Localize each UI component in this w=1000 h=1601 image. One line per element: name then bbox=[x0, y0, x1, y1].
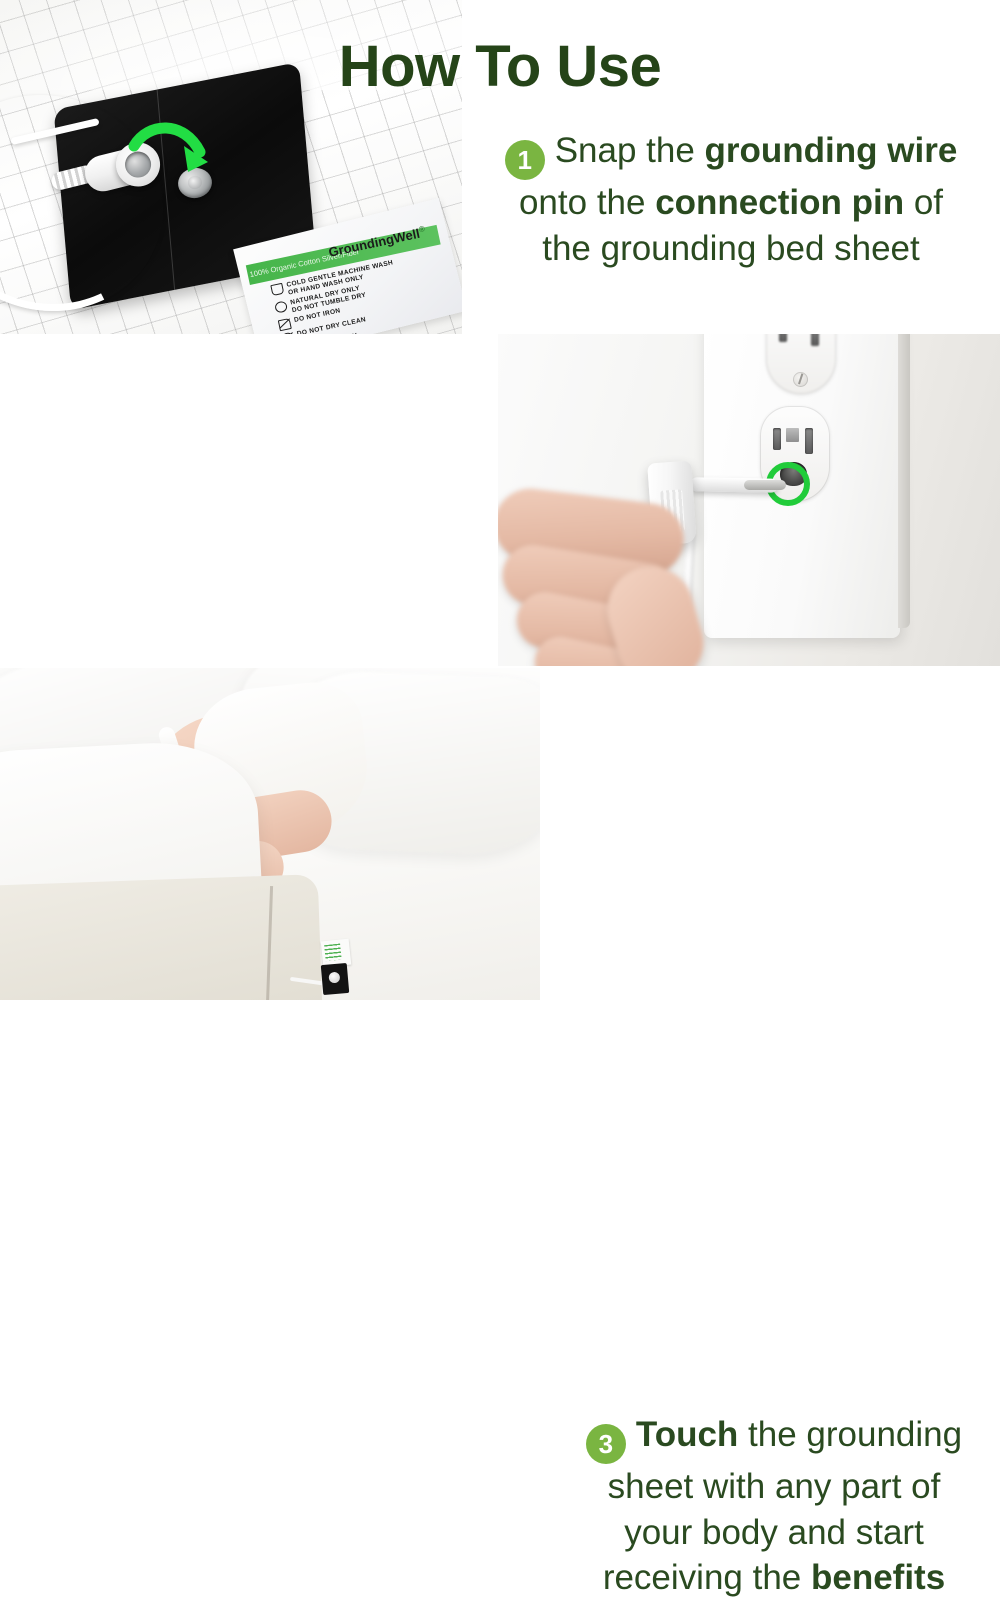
faceplate-edge bbox=[898, 334, 910, 628]
faceplate-screw bbox=[793, 372, 808, 387]
step-3-line-1: 3Touch the grounding bbox=[548, 1412, 1000, 1464]
socket-slot bbox=[805, 428, 813, 454]
step-1-line-3: the grounding bed sheet bbox=[462, 226, 1000, 272]
machine-wash-icon bbox=[270, 283, 284, 296]
step-2-photo bbox=[498, 334, 1000, 666]
step-2-section: 2Plug the grounding wire into the ground… bbox=[0, 334, 1000, 666]
step-3-line-2: sheet with any part of bbox=[548, 1464, 1000, 1510]
step-3-line-3: your body and start bbox=[548, 1510, 1000, 1556]
step-3-badge: 3 bbox=[586, 1424, 626, 1464]
socket-slot bbox=[811, 334, 819, 346]
hand bbox=[498, 470, 738, 666]
black-connector-patch bbox=[321, 963, 350, 995]
natural-dry-icon bbox=[274, 301, 288, 314]
step-1-line-1: 1Snap the grounding wire bbox=[462, 128, 1000, 180]
step-3-section: 3Touch the grounding sheet with any part… bbox=[0, 668, 1000, 1000]
step-1-line-2: onto the connection pin of bbox=[462, 180, 1000, 226]
socket-brand-mark bbox=[786, 428, 799, 442]
step-3-text: 3Touch the grounding sheet with any part… bbox=[548, 1412, 1000, 1601]
page-title: How To Use bbox=[0, 38, 1000, 96]
how-to-use-infographic: 100% Organic Cotton Silver/Fiber Groundi… bbox=[0, 0, 1000, 1000]
step-1-section: 100% Organic Cotton Silver/Fiber Groundi… bbox=[0, 0, 1000, 334]
plug-ground-pin bbox=[744, 480, 786, 490]
step-1-badge: 1 bbox=[505, 140, 545, 180]
do-not-iron-icon bbox=[278, 318, 292, 331]
socket-slot bbox=[779, 334, 787, 342]
step-1-text: 1Snap the grounding wire onto the connec… bbox=[462, 128, 1000, 271]
socket-slot bbox=[773, 428, 781, 450]
grounding-sheet-drape bbox=[0, 874, 322, 1000]
step-3-line-4: receiving the benefits bbox=[548, 1555, 1000, 1601]
step-3-photo bbox=[0, 668, 540, 1000]
